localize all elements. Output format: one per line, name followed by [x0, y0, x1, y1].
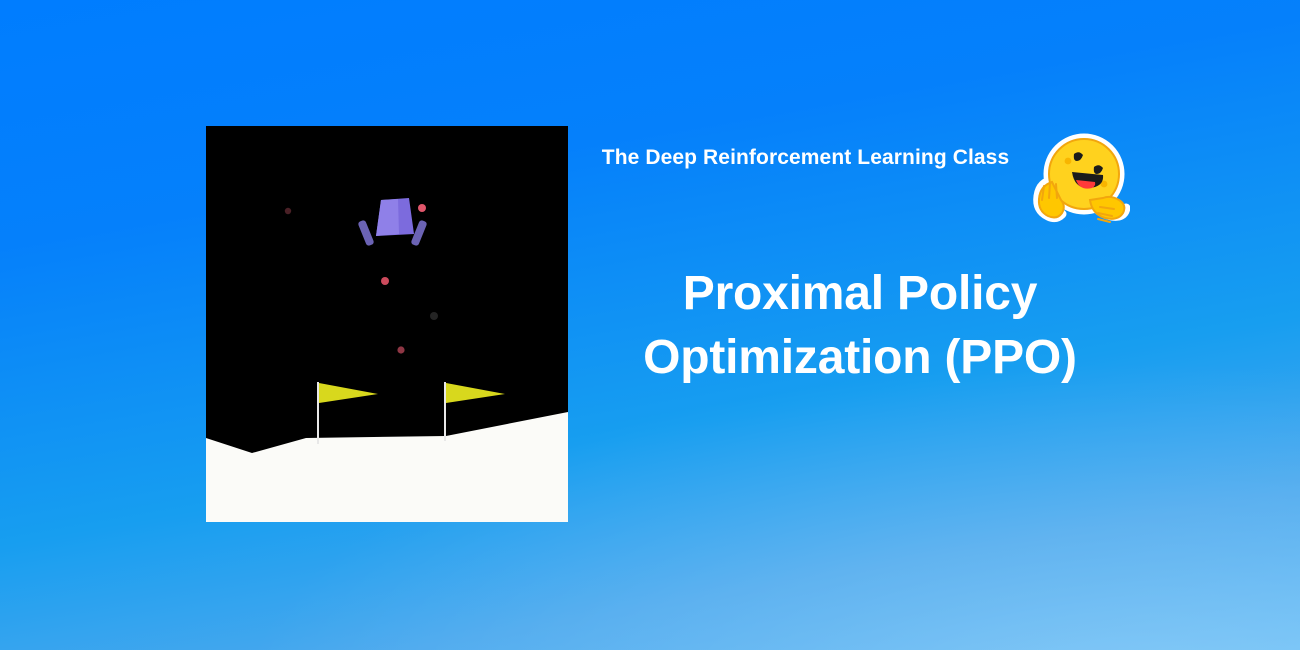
- hugging-face-emoji: [1024, 128, 1130, 234]
- lunar-lander-scene: [206, 126, 568, 522]
- hugging-face-emoji-glyph: [1024, 128, 1130, 234]
- particle: [381, 277, 389, 285]
- emoji-cheek-left: [1065, 158, 1072, 165]
- slide-canvas: The Deep Reinforcement Learning Class: [0, 0, 1300, 650]
- flag-pole: [444, 382, 446, 441]
- course-subtitle: The Deep Reinforcement Learning Class: [587, 143, 1024, 173]
- flag-pole: [317, 382, 319, 444]
- particle: [285, 208, 291, 214]
- page-title: Proximal Policy Optimization (PPO): [600, 262, 1120, 390]
- lunar-lander-screenshot: [206, 126, 568, 522]
- particle: [397, 346, 404, 353]
- particle: [418, 204, 426, 212]
- particle: [430, 312, 438, 320]
